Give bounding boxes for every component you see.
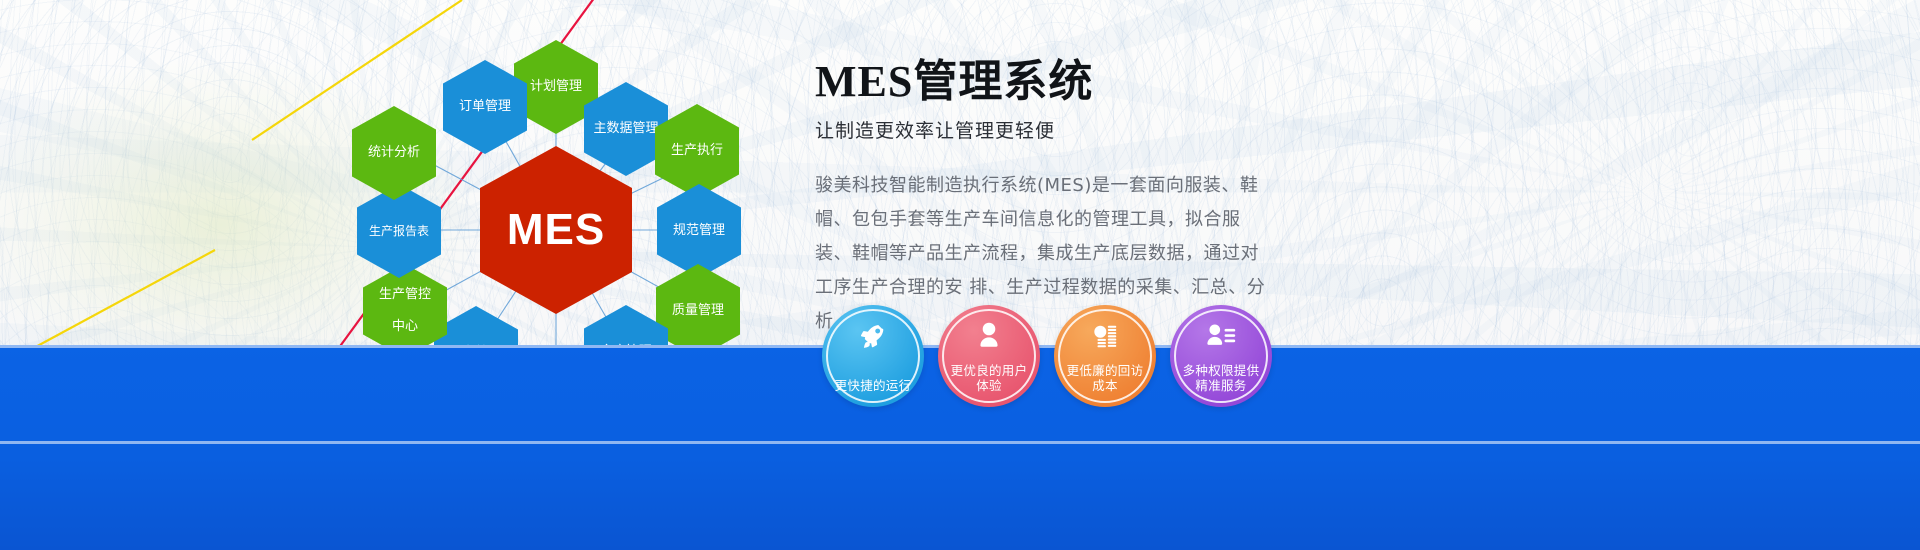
hexagon-node-label: 规范管理 <box>667 223 731 239</box>
hexagon-node-statistics[interactable]: 统计分析 <box>352 106 436 200</box>
rocket-icon <box>822 319 924 353</box>
content-column: MES管理系统 让制造更效率让管理更轻便 骏美科技智能制造执行系统(MES)是一… <box>815 58 1515 339</box>
badge-label-line1: 更快捷的运行 <box>835 378 912 393</box>
feature-badge-permissions[interactable]: 多种权限提供 精准服务 <box>1170 305 1272 407</box>
hexagon-node-label: 质量管理 <box>666 303 730 319</box>
hexagon-node-label-line2: 中心 <box>373 319 437 335</box>
hexagon-center-label: MES <box>501 203 611 257</box>
badge-label-line2: 体验 <box>976 378 1002 393</box>
hexagon-node-label: 计划管理 <box>524 79 588 95</box>
feature-badge-faster-operation[interactable]: 更快捷的运行 <box>822 305 924 407</box>
hexagon-node-quality[interactable]: 质量管理 <box>656 264 740 358</box>
feature-badge-list: 更快捷的运行 更优良的用户 体验 <box>822 305 1272 407</box>
hexagon-node-label: 订单管理 <box>453 99 517 115</box>
badge-label: 更快捷的运行 <box>826 378 921 393</box>
mes-banner: 计划管理 MES 计划管理 主数据管理 生产执行 规范管理 质量管理 仓库管理 … <box>0 0 1920 550</box>
badge-label-line1: 更优良的用户 <box>951 363 1028 378</box>
band-inner-line <box>0 441 1920 444</box>
badge-label: 更优良的用户 体验 <box>942 363 1037 393</box>
hexagon-node-label-multiline: 生产管控 中心 <box>367 287 443 335</box>
user-list-icon <box>1170 319 1272 353</box>
hexagon-node-mes-center[interactable]: 计划管理 MES <box>480 146 632 314</box>
badge-label-line2: 精准服务 <box>1195 378 1246 393</box>
coins-money-icon <box>1054 319 1156 353</box>
feature-badge-lower-cost[interactable]: 更低廉的回访 成本 <box>1054 305 1156 407</box>
badge-label: 多种权限提供 精准服务 <box>1174 363 1269 393</box>
feature-badge-better-experience[interactable]: 更优良的用户 体验 <box>938 305 1040 407</box>
hexagon-node-label: 生产执行 <box>665 143 729 159</box>
hexagon-node-standard[interactable]: 规范管理 <box>657 184 741 278</box>
user-icon <box>938 319 1040 353</box>
page-subtitle: 让制造更效率让管理更轻便 <box>815 116 1515 143</box>
badge-label-line2: 成本 <box>1092 378 1118 393</box>
hexagon-node-label: 主数据管理 <box>587 121 664 137</box>
hexagon-node-report[interactable]: 生产报告表 <box>357 184 441 278</box>
badge-label-line1: 多种权限提供 <box>1183 363 1260 378</box>
hexagon-node-label-line1: 生产管控 <box>373 287 437 303</box>
badge-label: 更低廉的回访 成本 <box>1058 363 1153 393</box>
page-title: MES管理系统 <box>815 58 1515 106</box>
hexagon-node-label: 生产报告表 <box>363 224 435 239</box>
hexagon-node-label: 统计分析 <box>362 145 426 161</box>
badge-label-line1: 更低廉的回访 <box>1067 363 1144 378</box>
